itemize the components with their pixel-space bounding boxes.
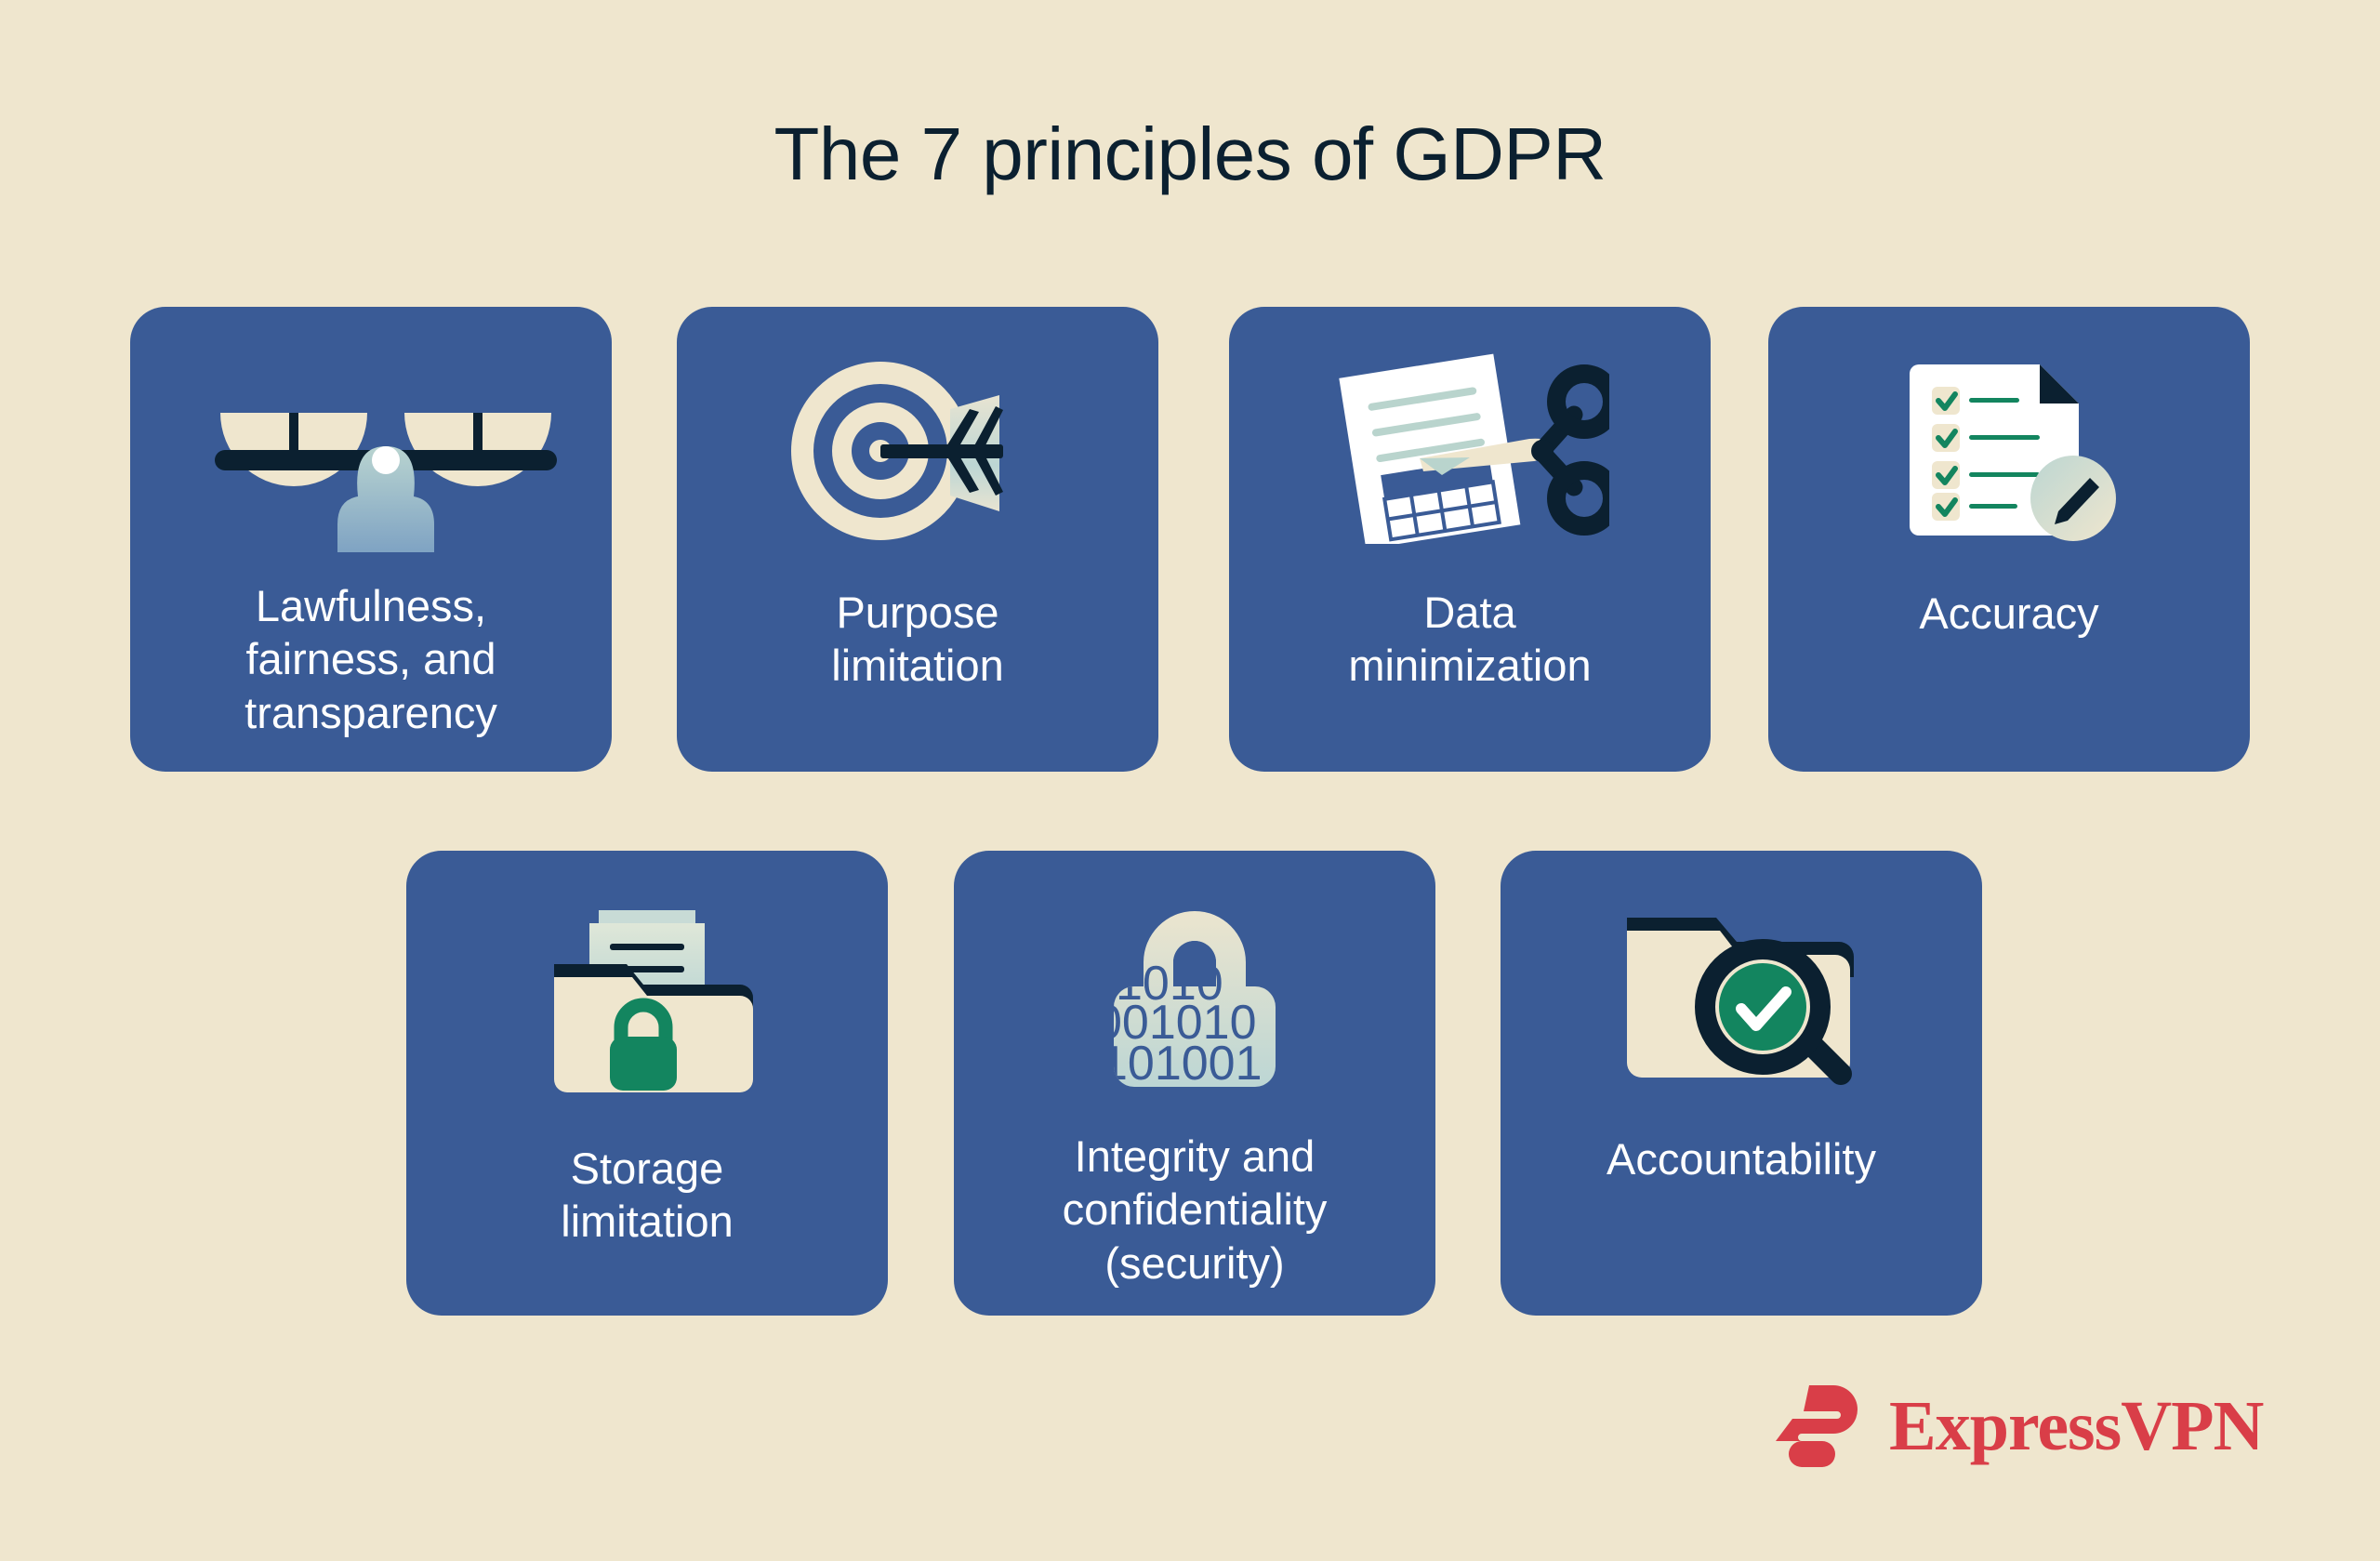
binary-row-3: 101001 — [1101, 1037, 1263, 1088]
folder-lock-icon — [406, 897, 888, 1097]
document-scissors-icon — [1229, 353, 1711, 544]
card-label-lawfulness: Lawfulness, fairness, and transparency — [230, 579, 512, 739]
card-label-minimization: Data minimization — [1333, 586, 1606, 693]
page-title: The 7 principles of GDPR — [0, 112, 2380, 197]
card-minimization[interactable]: Data minimization — [1229, 307, 1711, 772]
card-label-purpose: Purpose limitation — [816, 586, 1018, 693]
card-label-integrity: Integrity and confidentiality (security) — [1048, 1130, 1342, 1290]
card-label-storage: Storage limitation — [546, 1142, 747, 1249]
checklist-pencil-icon — [1768, 351, 2250, 542]
target-arrow-icon — [677, 358, 1158, 549]
card-label-accuracy: Accuracy — [1904, 587, 2113, 640]
card-label-accountability: Accountability — [1592, 1132, 1891, 1185]
card-accountability[interactable]: Accountability — [1501, 851, 1982, 1316]
expressvpn-logo-mark — [1766, 1376, 1867, 1476]
card-lawfulness[interactable]: Lawfulness, fairness, and transparency — [130, 307, 612, 772]
card-purpose[interactable]: Purpose limitation — [677, 307, 1158, 772]
expressvpn-wordmark: ExpressVPN — [1889, 1386, 2263, 1467]
card-accuracy[interactable]: Accuracy — [1768, 307, 2250, 772]
card-integrity[interactable]: 1010 001010 101001 Integrity and confide… — [954, 851, 1435, 1316]
expressvpn-logo[interactable]: ExpressVPN — [1766, 1376, 2263, 1476]
binary-padlock-icon: 1010 001010 101001 — [954, 897, 1435, 1088]
folder-magnifier-check-icon — [1501, 897, 1982, 1088]
balance-scales-icon — [130, 364, 612, 555]
card-storage[interactable]: Storage limitation — [406, 851, 888, 1316]
